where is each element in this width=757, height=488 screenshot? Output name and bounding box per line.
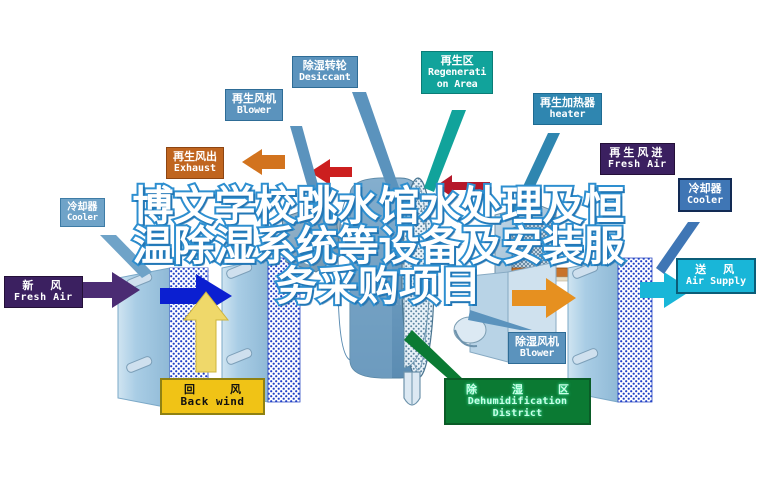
label-air-supply-en: Air Supply bbox=[686, 276, 746, 287]
label-regeneration-area-en: Regenerati bbox=[428, 67, 486, 78]
label-cooler-left-en: Cooler bbox=[67, 213, 98, 223]
label-regen-fresh-air-cn: 再生风进 bbox=[608, 147, 667, 159]
label-regen-blower[interactable]: 再生风机 Blower bbox=[225, 89, 283, 121]
label-regen-blower-cn: 再生风机 bbox=[232, 93, 276, 105]
label-air-supply[interactable]: 送 风 Air Supply bbox=[676, 258, 756, 294]
label-regen-fresh-air[interactable]: 再生风进 Fresh Air bbox=[600, 143, 675, 175]
label-back-wind-en: Back wind bbox=[172, 396, 253, 408]
label-regeneration-area-en2: on Area bbox=[428, 79, 486, 90]
label-dehumidification-blower-en: Blower bbox=[515, 348, 559, 359]
label-regeneration-area-cn: 再生区 bbox=[428, 55, 486, 67]
diagram-canvas: XT bbox=[0, 0, 757, 488]
label-regen-exhaust-cn: 再生风出 bbox=[173, 151, 217, 163]
label-back-wind[interactable]: 回 风 Back wind bbox=[160, 378, 265, 415]
label-regeneration-heater-cn: 再生加热器 bbox=[540, 97, 595, 109]
label-regen-exhaust-en: Exhaust bbox=[173, 163, 217, 174]
label-dehumidification-district-en2: District bbox=[454, 408, 581, 419]
label-fresh-air-inlet-cn: 新 风 bbox=[14, 280, 73, 292]
label-dehumidification-blower[interactable]: 除湿风机 Blower bbox=[508, 332, 566, 364]
svg-text:XT: XT bbox=[392, 298, 404, 308]
label-fresh-air-inlet-en: Fresh Air bbox=[14, 292, 73, 303]
arrow-regen-feed bbox=[436, 175, 490, 197]
arrow-exhaust-out bbox=[242, 149, 285, 175]
label-dehumidification-district-cn: 除 湿 区 bbox=[454, 384, 581, 396]
label-cooler-right-en: Cooler bbox=[687, 195, 723, 206]
regeneration-fan bbox=[282, 206, 344, 272]
label-desiccant-wheel-en: Desiccant bbox=[299, 72, 351, 83]
label-regeneration-heater[interactable]: 再生加热器 heater bbox=[533, 93, 602, 125]
label-regen-exhaust[interactable]: 再生风出 Exhaust bbox=[166, 147, 224, 179]
label-cooler-left-cn: 冷却器 bbox=[67, 202, 98, 213]
label-regen-fresh-air-en: Fresh Air bbox=[608, 159, 667, 170]
label-air-supply-cn: 送 风 bbox=[686, 264, 746, 276]
label-dehumidification-district[interactable]: 除 湿 区 Dehumidification District bbox=[444, 378, 591, 425]
system-schematic: XT bbox=[0, 0, 757, 488]
label-fresh-air-inlet[interactable]: 新 风 Fresh Air bbox=[4, 276, 83, 308]
label-cooler-right[interactable]: 冷却器 Cooler bbox=[678, 178, 732, 212]
label-desiccant-wheel[interactable]: 除湿转轮 Desiccant bbox=[292, 56, 358, 88]
label-desiccant-wheel-cn: 除湿转轮 bbox=[299, 60, 351, 72]
label-regeneration-heater-en: heater bbox=[540, 109, 595, 120]
label-cooler-left[interactable]: 冷却器 Cooler bbox=[60, 198, 105, 227]
label-regeneration-area[interactable]: 再生区 Regenerati on Area bbox=[421, 51, 493, 94]
label-dehumidification-district-en: Dehumidification bbox=[454, 396, 581, 407]
condensate-drain bbox=[404, 372, 420, 405]
label-cooler-right-cn: 冷却器 bbox=[687, 183, 723, 195]
label-regen-blower-en: Blower bbox=[232, 105, 276, 116]
label-dehumidification-blower-cn: 除湿风机 bbox=[515, 336, 559, 348]
